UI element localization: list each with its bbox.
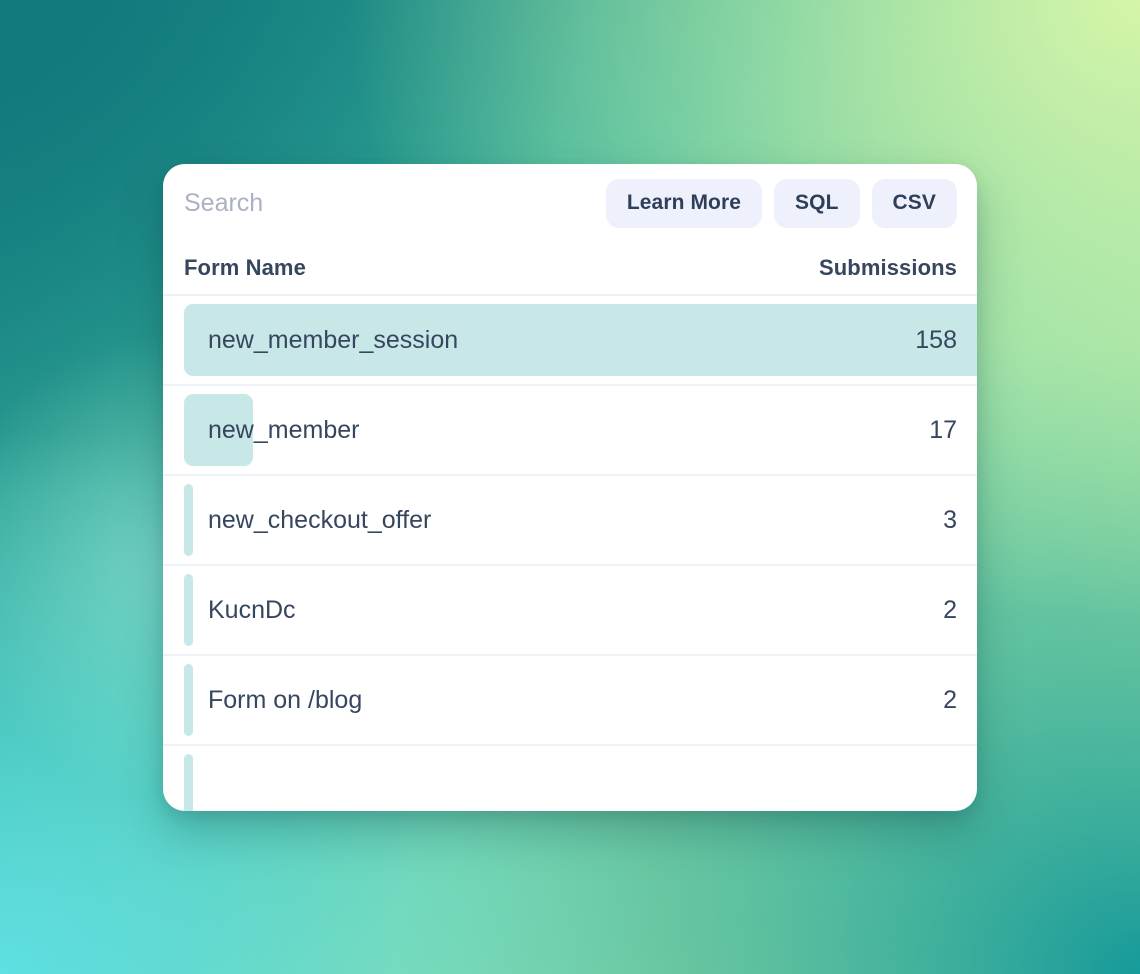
table-row[interactable]: new_checkout_offer3 [163,476,977,566]
forms-panel-card: Learn More SQL CSV Form Name Submissions… [163,164,977,811]
table-row[interactable] [163,746,977,811]
row-submission-count: 3 [943,506,977,535]
row-submission-count: 2 [943,596,977,625]
search-input[interactable] [184,183,544,223]
csv-button[interactable]: CSV [872,179,957,228]
row-submission-count: 2 [943,686,977,715]
table-column-header: Form Name Submissions [163,242,977,296]
row-submission-count: 158 [915,326,977,355]
row-form-name: new_member [163,416,359,445]
row-form-name: new_member_session [163,326,458,355]
forms-table-body: new_member_session158new_member17new_che… [163,296,977,811]
row-form-name: KucnDc [163,596,296,625]
learn-more-button[interactable]: Learn More [606,179,762,228]
table-row[interactable]: Form on /blog2 [163,656,977,746]
table-row[interactable]: KucnDc2 [163,566,977,656]
sql-button[interactable]: SQL [774,179,859,228]
table-row[interactable]: new_member_session158 [163,296,977,386]
row-form-name: new_checkout_offer [163,506,431,535]
row-form-name: Form on /blog [163,686,362,715]
row-submission-count: 17 [929,416,977,445]
column-header-form-name: Form Name [184,255,306,281]
table-row[interactable]: new_member17 [163,386,977,476]
row-value-bar [184,754,193,811]
toolbar-actions: Learn More SQL CSV [606,179,957,228]
column-header-submissions: Submissions [819,255,957,281]
toolbar: Learn More SQL CSV [163,164,977,242]
